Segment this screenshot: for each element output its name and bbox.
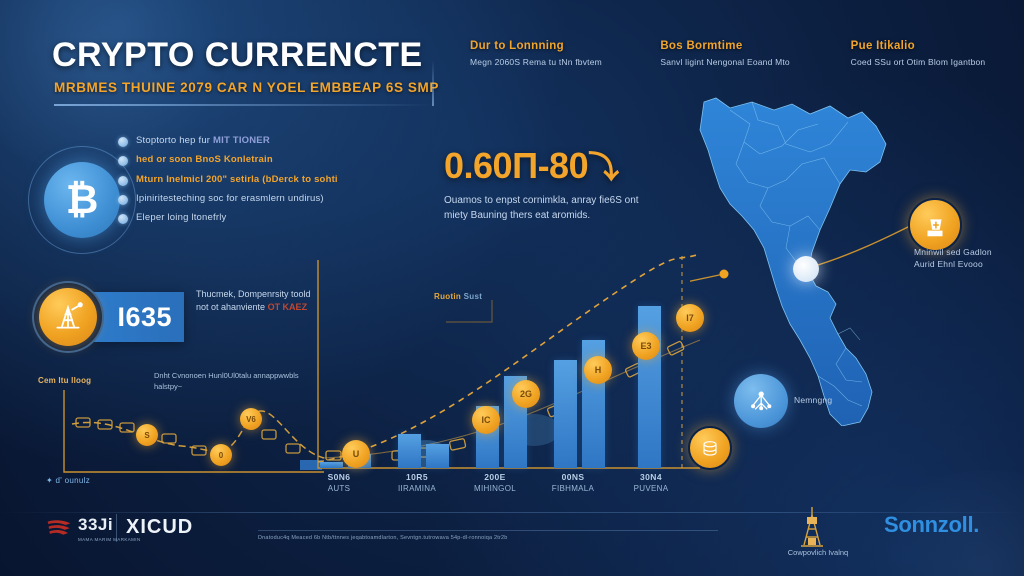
bitcoin-badge: ₿ xyxy=(44,162,120,238)
trend-arrow-icon: ⤵ xyxy=(588,150,619,185)
mining-rig-icon xyxy=(51,300,85,334)
bar xyxy=(398,434,421,468)
infographic-canvas: CRYPTO CURRENCTE MRBMES THUINE 2079 CAR … xyxy=(0,0,1024,576)
chain-coin-node: S xyxy=(136,424,158,446)
feature-bullet-list: Stoptorto hep fur MIT TIONER hed or soon… xyxy=(118,135,398,232)
chart-coin-node: H xyxy=(584,356,612,384)
bar xyxy=(320,462,343,468)
bar xyxy=(426,444,449,468)
chart-coin-node: 2G xyxy=(512,380,540,408)
bullet-text-1: Stoptorto hep fur MIT TIONER xyxy=(136,135,270,147)
network-marker-label-line1: Nemngng xyxy=(794,395,832,405)
page-title: CRYPTO CURRENCTE xyxy=(52,36,423,75)
bullet-dot-icon xyxy=(118,137,128,147)
kpi-icon-ring xyxy=(32,281,104,353)
x-axis-label-primary: 00NS xyxy=(534,472,612,482)
mining-marker[interactable] xyxy=(908,198,962,252)
left-chart-x-caption: ✦ d' ounulz xyxy=(46,476,90,485)
x-axis-label-secondary: AUTS xyxy=(300,484,378,493)
footer-fineprint: Dnatoduc4q Meaced 6b Ntb/ttnnes jeqabtoa… xyxy=(258,534,718,542)
chart-coin-label: H xyxy=(595,365,602,375)
bar-chart-x-labels: S0N6 AUTS 10R5 IIRAMINA 200E MIHINGOL 00… xyxy=(318,472,698,508)
chart-coin-node: IC xyxy=(472,406,500,434)
list-item: hed or soon BnoS Konletrain xyxy=(118,154,398,166)
bullet-dot-icon xyxy=(118,195,128,205)
mining-marker-label-line1: Mninwil sed Gadlon xyxy=(914,247,992,257)
mining-rig-icon xyxy=(920,210,950,240)
title-divider xyxy=(54,104,434,106)
header-columns: Dur to Lonnning Megn 2060S Rema tu tNn f… xyxy=(470,40,1015,68)
blockchain-chain-chart: Cem ltu lloog Dnht Cvnonoen Hunl0Ul0talu… xyxy=(24,372,324,502)
bitcoin-symbol-icon: ₿ xyxy=(66,180,99,220)
network-marker-label: Nemngng xyxy=(794,394,832,406)
logo-secondary[interactable]: XICUD xyxy=(126,516,193,539)
x-axis-label-primary: 200E xyxy=(456,472,534,482)
hub-marker[interactable] xyxy=(793,256,819,282)
chain-coin-node: V6 xyxy=(240,408,262,430)
mining-marker-label-line2: Aurid Ehnl Evooo xyxy=(914,259,983,269)
x-axis-label-secondary: IIRAMINA xyxy=(378,484,456,493)
fineprint-divider xyxy=(258,530,718,531)
list-item: Eleper loing ltonefrly xyxy=(118,212,398,224)
logo-divider xyxy=(116,514,117,542)
x-axis-label-primary: 10R5 xyxy=(378,472,456,482)
growth-bar-chart: Ruotin Sust xyxy=(296,248,708,510)
exchange-marker[interactable] xyxy=(688,426,732,470)
header-column-3-heading: Pue Itikalio xyxy=(851,40,1015,52)
bullet-dot-icon xyxy=(118,176,128,186)
network-marker[interactable] xyxy=(734,374,788,428)
bar-series xyxy=(318,272,698,468)
chain-coin-label: V6 xyxy=(246,415,256,424)
brand-logo-dot: . xyxy=(973,512,979,537)
mining-marker-label: Mninwil sed Gadlon Aurid Ehnl Evooo xyxy=(914,246,1024,271)
mining-rig-illustration xyxy=(795,505,829,549)
kpi-note-line1: Thucmek, Dompenrsity toold xyxy=(196,289,311,299)
chain-coin-label: 0 xyxy=(219,451,223,460)
wing-logo-icon xyxy=(46,518,72,540)
headline-stat-value: 0.60Π-80⤵ xyxy=(444,148,659,184)
coin-stack-icon xyxy=(698,436,722,460)
header-column-3: Pue Itikalio Coed SSu ort Otim Blom Igan… xyxy=(851,40,1015,68)
brand-logo[interactable]: Sonnzoll. xyxy=(884,512,979,538)
chain-coin-node: 0 xyxy=(210,444,232,466)
x-axis-label: 30N4 PUVENA xyxy=(612,472,690,493)
chart-coin-label: U xyxy=(353,449,360,459)
headline-stat-body: Ouamos to enpst cornimkla, anray fie6S o… xyxy=(444,193,659,223)
chart-coin-node: E3 xyxy=(632,332,660,360)
regional-map: Mninwil sed Gadlon Aurid Ehnl Evooo Nemn… xyxy=(690,96,1024,426)
chain-coin-label: S xyxy=(144,431,149,440)
header-column-1-heading: Dur to Lonnning xyxy=(470,40,634,52)
chart-coin-label: E3 xyxy=(640,341,651,351)
x-axis-label-secondary: PUVENA xyxy=(612,484,690,493)
list-item: Mturn Inelmicl 200" setirla (bDerck to s… xyxy=(118,174,398,186)
header-column-3-text: Coed SSu ort Otim Blom Igantbon xyxy=(851,57,1015,68)
bullet-dot-icon xyxy=(118,156,128,166)
list-item: Ipiniritesteching soc for erasmlern undi… xyxy=(118,193,398,205)
bullet-text-2: hed or soon BnoS Konletrain xyxy=(136,154,273,166)
header-column-1-text: Megn 2060S Rema tu tNn fbvtem xyxy=(470,57,634,68)
brand-logo-text: Sonnzoll xyxy=(884,512,973,537)
kpi-value: I635 xyxy=(117,302,172,333)
title-divider-vertical xyxy=(432,60,434,106)
header-column-2: Bos Bormtime Sanvl ligint Nengonal Eoand… xyxy=(660,40,824,68)
chart-coin-label: IC xyxy=(482,415,491,425)
bullet-text-3: Mturn Inelmicl 200" setirla (bDerck to s… xyxy=(136,174,338,186)
kpi-note-line2: not ot ahanviente xyxy=(196,302,268,312)
mining-rig-caption: Cowpovlich Ivalnq xyxy=(763,548,873,557)
header-column-2-text: Sanvl ligint Nengonal Eoand Mto xyxy=(660,57,824,68)
chart-coin-node: U xyxy=(342,440,370,468)
x-axis-label: S0N6 AUTS xyxy=(300,472,378,493)
chart-coin-label: 2G xyxy=(520,389,532,399)
bullet-emphasis-1: MIT TIONER xyxy=(213,135,270,146)
bar xyxy=(638,306,661,468)
header-column-1: Dur to Lonnning Megn 2060S Rema tu tNn f… xyxy=(470,40,634,68)
headline-stat: 0.60Π-80⤵ Ouamos to enpst cornimkla, anr… xyxy=(444,148,659,223)
network-nodes-icon xyxy=(745,385,777,417)
bullet-dot-icon xyxy=(118,214,128,224)
x-axis-label: 00NS FIBHMALA xyxy=(534,472,612,493)
bar xyxy=(554,360,577,468)
header-column-2-heading: Bos Bormtime xyxy=(660,40,824,52)
x-axis-label-primary: 30N4 xyxy=(612,472,690,482)
x-axis-label-primary: S0N6 xyxy=(300,472,378,482)
x-axis-label: 200E MIHINGOL xyxy=(456,472,534,493)
x-axis-label-secondary: MIHINGOL xyxy=(456,484,534,493)
bullet-text-4: Ipiniritesteching soc for erasmlern undi… xyxy=(136,193,324,205)
list-item: Stoptorto hep fur MIT TIONER xyxy=(118,135,398,147)
logo-primary-name: 33Ji xyxy=(78,515,113,534)
kpi-coin xyxy=(39,288,97,346)
footer-divider xyxy=(0,512,1024,513)
x-axis-label: 10R5 IIRAMINA xyxy=(378,472,456,493)
x-axis-label-secondary: FIBHMALA xyxy=(534,484,612,493)
page-subtitle: MRBMES THUINE 2079 CAR N YOEL EMBBEAP 6S… xyxy=(54,80,439,95)
bullet-text-5: Eleper loing ltonefrly xyxy=(136,212,226,224)
